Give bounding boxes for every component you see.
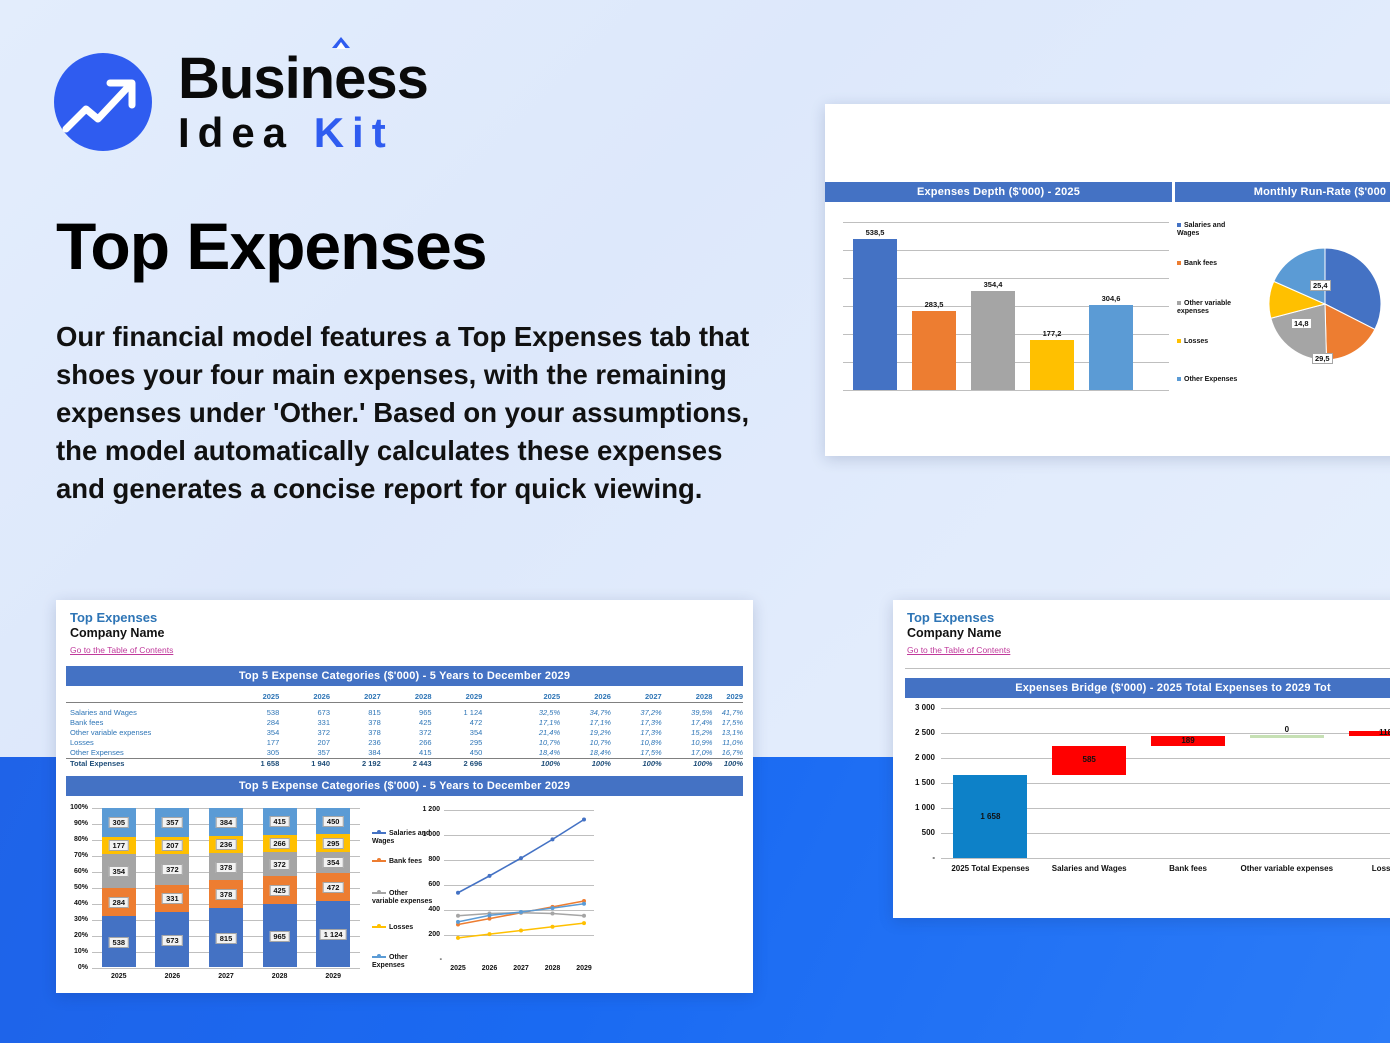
total-value-cell: 1 658	[228, 758, 279, 769]
bridge-y-tick-6: 3 000	[897, 703, 935, 712]
percent-cell: 17,3%	[611, 718, 662, 728]
percent-cell: 17,5%	[712, 718, 743, 728]
column-header-2028: 2028	[381, 692, 432, 703]
segment-value-label: 177	[109, 840, 130, 851]
line-x-tick-2026: 2026	[476, 965, 504, 972]
line-y-tick-600: 600	[412, 881, 440, 888]
x-tick-2025: 2025	[102, 973, 136, 980]
panel-a-band-row: Expenses Depth ($'000) - 2025 Monthly Ru…	[825, 182, 1390, 202]
brand-name-text: Business	[178, 46, 428, 111]
y-tick-20%: 20%	[60, 932, 88, 939]
line-point	[456, 890, 460, 894]
line-point	[582, 921, 586, 925]
band-monthly-run-rate: Monthly Run-Rate ($'000	[1172, 182, 1390, 202]
bridge-category-0: 2025 Total Expenses	[941, 864, 1040, 873]
segment-value-label: 965	[269, 931, 290, 942]
row-label: Bank fees	[66, 718, 228, 728]
segment-value-label: 354	[323, 857, 344, 868]
y-tick-80%: 80%	[60, 836, 88, 843]
value-cell: 331	[279, 718, 330, 728]
table-row: Other variable expenses35437237837235421…	[66, 728, 743, 738]
value-cell: 815	[330, 708, 381, 718]
y-tick-60%: 60%	[60, 868, 88, 875]
value-cell: 673	[279, 708, 330, 718]
brand-name-line1: Business	[178, 50, 428, 108]
divider	[905, 668, 1390, 669]
value-cell: 378	[330, 728, 381, 738]
monthly-run-rate-pie-chart	[1205, 208, 1390, 408]
bridge-value-label-4: 118	[1349, 728, 1390, 737]
bar-value-label: 538,5	[853, 228, 897, 237]
line-point	[488, 873, 492, 877]
line-point	[551, 924, 555, 928]
bar-value-label: 354,4	[971, 280, 1015, 289]
segment-value-label: 305	[109, 817, 130, 828]
bar-3	[1030, 340, 1074, 390]
chart-gridline	[843, 222, 1169, 223]
value-cell: 357	[279, 748, 330, 759]
percent-cell: 37,2%	[611, 708, 662, 718]
percent-cell: 10,9%	[662, 738, 713, 748]
line-point	[519, 928, 523, 932]
segment-value-label: 378	[216, 889, 237, 900]
legend-swatch	[372, 832, 386, 834]
column-header-2025: 2025	[228, 692, 279, 703]
percent-cell: 41,7%	[712, 708, 743, 718]
bridge-y-tick-0: -	[897, 853, 935, 862]
line-point	[488, 932, 492, 936]
percent-cell: 11,0%	[712, 738, 743, 748]
value-cell: 236	[330, 738, 381, 748]
pie-value-label-1: 14,8	[1291, 318, 1312, 329]
pie-value-label-2: 29,5	[1312, 353, 1333, 364]
panel-b-header: Top Expenses Company Name Go to the Tabl…	[56, 600, 753, 662]
value-cell: 415	[381, 748, 432, 759]
bridge-y-tick-1: 500	[897, 828, 935, 837]
segment-value-label: 378	[216, 862, 237, 873]
value-cell: 372	[381, 728, 432, 738]
line-point	[582, 901, 586, 905]
line-point	[582, 913, 586, 917]
table-row: Salaries and Wages5386738159651 12432,5%…	[66, 708, 743, 718]
row-label: Salaries and Wages	[66, 708, 228, 718]
percent-cell: 18,4%	[560, 748, 611, 759]
segment-value-label: 384	[216, 817, 237, 828]
total-value-cell: 1 940	[279, 758, 330, 769]
percent-cell: 17,1%	[509, 718, 560, 728]
brand-logo: Business Idea Kit	[54, 50, 428, 154]
panel-c-header: Top Expenses Company Name Go to the Tabl…	[893, 600, 1390, 662]
segment-value-label: 815	[216, 933, 237, 944]
screenshot-panel-expenses-bridge: Top Expenses Company Name Go to the Tabl…	[893, 600, 1390, 918]
legend-swatch	[372, 956, 386, 958]
y-tick-30%: 30%	[60, 916, 88, 923]
segment-value-label: 236	[216, 839, 237, 850]
row-label: Other variable expenses	[66, 728, 228, 738]
y-tick-40%: 40%	[60, 900, 88, 907]
brand-circumflex-icon	[332, 37, 350, 48]
legend-swatch	[372, 926, 386, 928]
brand-name-line2: Idea Kit	[178, 112, 428, 154]
value-cell: 965	[381, 708, 432, 718]
table-row: Losses17720723626629510,7%10,7%10,8%10,9…	[66, 738, 743, 748]
line-point	[488, 913, 492, 917]
x-tick-2027: 2027	[209, 973, 243, 980]
bridge-y-tick-2: 1 000	[897, 803, 935, 812]
growth-arrow-icon	[54, 53, 152, 151]
spacer	[482, 728, 509, 738]
segment-value-label: 673	[162, 935, 183, 946]
bridge-y-tick-3: 1 500	[897, 778, 935, 787]
table-of-contents-link[interactable]: Go to the Table of Contents	[907, 645, 1010, 655]
segment-value-label: 207	[162, 840, 183, 851]
bridge-category-1: Salaries and Wages	[1040, 864, 1139, 873]
expenses-bridge-waterfall-chart: -5001 0001 5002 0002 5003 0001 6582025 T…	[893, 698, 1390, 894]
value-cell: 372	[279, 728, 330, 738]
screenshot-panel-top5-categories: Top Expenses Company Name Go to the Tabl…	[56, 600, 753, 993]
band-top5-chart: Top 5 Expense Categories ($'000) - 5 Yea…	[66, 776, 743, 796]
chart-gridline	[843, 390, 1169, 391]
bar-value-label: 283,5	[912, 300, 956, 309]
bridge-value-label-2: 189	[1151, 736, 1225, 745]
total-label: Total Expenses	[66, 758, 228, 769]
spacer	[482, 758, 509, 769]
total-percent-cell: 100%	[712, 758, 743, 769]
spacer	[482, 692, 509, 703]
line-x-tick-2027: 2027	[507, 965, 535, 972]
total-percent-cell: 100%	[560, 758, 611, 769]
page-description: Our financial model features a Top Expen…	[56, 318, 756, 508]
band-expenses-bridge: Expenses Bridge ($'000) - 2025 Total Exp…	[905, 678, 1390, 698]
y-tick-10%: 10%	[60, 948, 88, 955]
segment-value-label: 450	[323, 816, 344, 827]
percent-cell: 10,7%	[509, 738, 560, 748]
legend-swatch	[372, 860, 386, 862]
bridge-category-4: Losses	[1336, 864, 1390, 873]
percent-cell: 17,1%	[560, 718, 611, 728]
bridge-category-3: Other variable expenses	[1237, 864, 1336, 873]
expenses-depth-bar-chart: 538,5283,5354,4177,2304,6Salaries and Wa…	[825, 208, 1390, 408]
line-x-tick-2029: 2029	[570, 965, 598, 972]
legend-swatch	[1177, 261, 1181, 265]
spacer	[482, 708, 509, 718]
value-cell: 450	[432, 748, 483, 759]
segment-value-label: 1 124	[320, 929, 347, 940]
segment-value-label: 425	[269, 885, 290, 896]
pie-value-label-0: 25,4	[1310, 280, 1331, 291]
value-cell: 378	[330, 718, 381, 728]
line-point	[551, 837, 555, 841]
percent-cell: 32,5%	[509, 708, 560, 718]
x-tick-2028: 2028	[263, 973, 297, 980]
legend-swatch	[1177, 223, 1181, 227]
bridge-y-tick-4: 2 000	[897, 753, 935, 762]
sheet-title: Top Expenses	[70, 610, 739, 625]
percent-cell: 34,7%	[560, 708, 611, 718]
brand-idea-text: Idea	[178, 109, 294, 156]
segment-value-label: 354	[109, 866, 130, 877]
top5-stacked-bar-and-line-chart: 0%10%20%30%40%50%60%70%80%90%100%5382843…	[56, 796, 753, 994]
value-cell: 266	[381, 738, 432, 748]
segment-value-label: 284	[109, 897, 130, 908]
legend-swatch	[1177, 377, 1181, 381]
percent-cell: 17,4%	[662, 718, 713, 728]
top5-table-wrap: 2025202620272028202920252026202720282029…	[56, 686, 753, 769]
percent-cell: 39,5%	[662, 708, 713, 718]
percent-cell: 18,4%	[509, 748, 560, 759]
page-title: Top Expenses	[56, 208, 487, 284]
value-cell: 1 124	[432, 708, 483, 718]
bridge-gridline	[941, 758, 1390, 759]
legend-swatch	[372, 892, 386, 894]
table-total-row: Total Expenses1 6581 9402 1922 4432 6961…	[66, 758, 743, 769]
value-cell: 207	[279, 738, 330, 748]
segment-value-label: 295	[323, 838, 344, 849]
percent-cell: 17,0%	[662, 748, 713, 759]
line-legend-item-4: Other Expenses	[372, 954, 434, 970]
line-point	[582, 817, 586, 821]
bridge-gridline	[941, 858, 1390, 859]
line-y-tick-400: 400	[412, 906, 440, 913]
x-tick-2026: 2026	[155, 973, 189, 980]
value-cell: 472	[432, 718, 483, 728]
sheet-title: Top Expenses	[907, 610, 1390, 625]
line-point	[519, 910, 523, 914]
segment-value-label: 415	[269, 816, 290, 827]
bar-1	[912, 311, 956, 390]
line-legend-item-2: Other variable expenses	[372, 890, 434, 906]
segment-value-label: 372	[162, 864, 183, 875]
segment-value-label: 266	[269, 838, 290, 849]
line-y-tick-200: 200	[412, 931, 440, 938]
percent-cell: 21,4%	[509, 728, 560, 738]
line-point	[551, 906, 555, 910]
total-value-cell: 2 443	[381, 758, 432, 769]
percent-cell: 13,1%	[712, 728, 743, 738]
table-row: Bank fees28433137842547217,1%17,1%17,3%1…	[66, 718, 743, 728]
bridge-value-label-3: 0	[1250, 725, 1324, 734]
value-cell: 538	[228, 708, 279, 718]
expense-trend-line-chart	[444, 810, 610, 990]
column-header-2027: 2027	[330, 692, 381, 703]
percent-cell: 16,7%	[712, 748, 743, 759]
line-x-tick-2025: 2025	[444, 965, 472, 972]
top5-expense-table: 2025202620272028202920252026202720282029…	[66, 692, 743, 769]
line-y-tick-zero: -	[432, 956, 442, 963]
value-cell: 305	[228, 748, 279, 759]
value-cell: 425	[381, 718, 432, 728]
line-y-tick-1 200: 1 200	[412, 806, 440, 813]
row-label: Other Expenses	[66, 748, 228, 759]
pct-column-header-2025: 2025	[509, 692, 560, 703]
company-name: Company Name	[70, 626, 739, 640]
band-expenses-depth: Expenses Depth ($'000) - 2025	[825, 182, 1172, 202]
bar-4	[1089, 305, 1133, 390]
segment-value-label: 472	[323, 882, 344, 893]
line-point	[519, 856, 523, 860]
y-tick-50%: 50%	[60, 884, 88, 891]
y-tick-100%: 100%	[60, 804, 88, 811]
bridge-category-2: Bank fees	[1139, 864, 1238, 873]
x-tick-2029: 2029	[316, 973, 350, 980]
percent-cell: 10,8%	[611, 738, 662, 748]
percent-cell: 17,5%	[611, 748, 662, 759]
table-header-row: 2025202620272028202920252026202720282029	[66, 692, 743, 703]
line-point	[456, 935, 460, 939]
value-cell: 177	[228, 738, 279, 748]
bridge-value-label-0: 1 658	[953, 812, 1027, 821]
legend-swatch	[1177, 301, 1181, 305]
spacer	[482, 748, 509, 759]
percent-cell: 19,2%	[560, 728, 611, 738]
line-point	[456, 919, 460, 923]
line-point	[551, 911, 555, 915]
total-value-cell: 2 696	[432, 758, 483, 769]
brand-kit-text: Kit	[314, 109, 394, 156]
bridge-y-tick-5: 2 500	[897, 728, 935, 737]
segment-value-label: 372	[269, 859, 290, 870]
value-cell: 284	[228, 718, 279, 728]
percent-cell: 17,3%	[611, 728, 662, 738]
segment-value-label: 538	[109, 937, 130, 948]
bar-value-label: 177,2	[1030, 329, 1074, 338]
percent-cell: 15,2%	[662, 728, 713, 738]
bridge-bar-3	[1250, 735, 1324, 738]
percent-cell: 10,7%	[560, 738, 611, 748]
table-header-blank	[66, 692, 228, 703]
total-percent-cell: 100%	[509, 758, 560, 769]
spacer	[482, 738, 509, 748]
y-tick-90%: 90%	[60, 820, 88, 827]
y-tick-0%: 0%	[60, 964, 88, 971]
pct-column-header-2028: 2028	[662, 692, 713, 703]
column-header-2029: 2029	[432, 692, 483, 703]
spacer	[482, 718, 509, 728]
line-y-tick-1 000: 1 000	[412, 831, 440, 838]
bar-2	[971, 291, 1015, 390]
bar-value-label: 304,6	[1089, 294, 1133, 303]
value-cell: 384	[330, 748, 381, 759]
bridge-gridline	[941, 708, 1390, 709]
value-cell: 295	[432, 738, 483, 748]
total-percent-cell: 100%	[611, 758, 662, 769]
value-cell: 354	[432, 728, 483, 738]
total-value-cell: 2 192	[330, 758, 381, 769]
value-cell: 354	[228, 728, 279, 738]
bridge-value-label-1: 585	[1052, 755, 1126, 764]
total-percent-cell: 100%	[662, 758, 713, 769]
line-x-tick-2028: 2028	[539, 965, 567, 972]
legend-swatch	[1177, 339, 1181, 343]
band-top5-table: Top 5 Expense Categories ($'000) - 5 Yea…	[66, 666, 743, 686]
y-tick-70%: 70%	[60, 852, 88, 859]
stacked-gridline	[92, 968, 360, 969]
column-header-2026: 2026	[279, 692, 330, 703]
table-row: Other Expenses30535738441545018,4%18,4%1…	[66, 748, 743, 759]
pct-column-header-2027: 2027	[611, 692, 662, 703]
table-of-contents-link[interactable]: Go to the Table of Contents	[70, 645, 173, 655]
bar-0	[853, 239, 897, 390]
pct-column-header-2029: 2029	[712, 692, 743, 703]
row-label: Losses	[66, 738, 228, 748]
segment-value-label: 331	[162, 893, 183, 904]
screenshot-panel-expenses-depth: Expenses Depth ($'000) - 2025 Monthly Ru…	[825, 104, 1390, 456]
line-point	[456, 913, 460, 917]
line-y-tick-800: 800	[412, 856, 440, 863]
pct-column-header-2026: 2026	[560, 692, 611, 703]
company-name: Company Name	[907, 626, 1390, 640]
segment-value-label: 357	[162, 817, 183, 828]
